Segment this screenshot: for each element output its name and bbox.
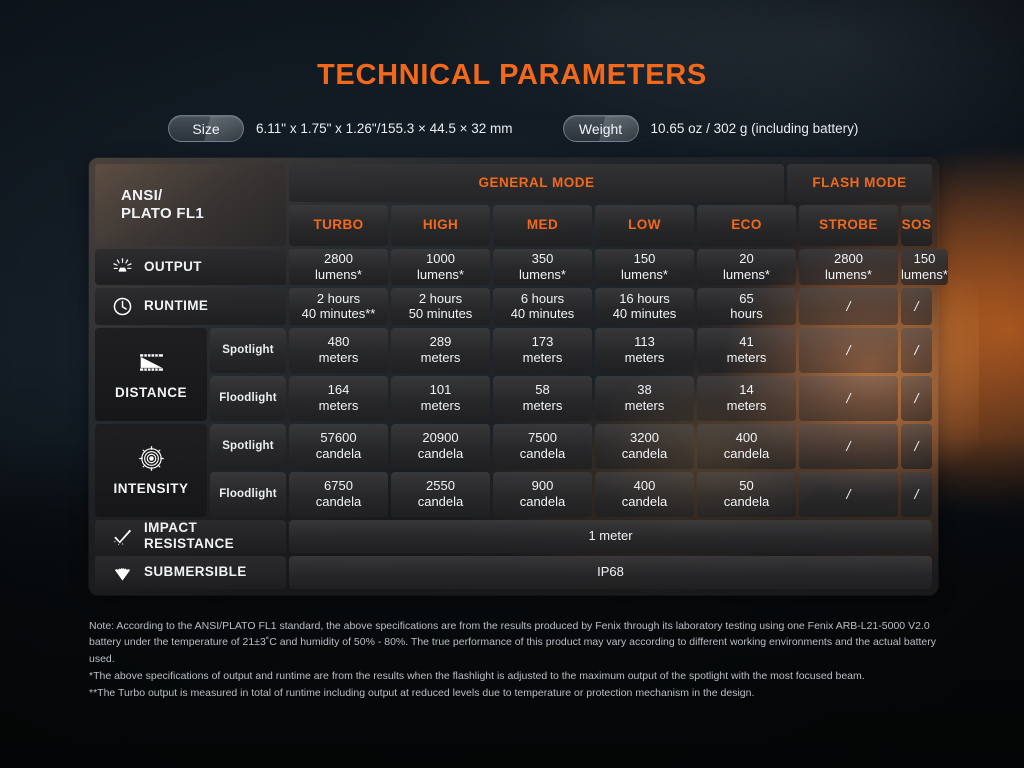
value-unit: meters bbox=[625, 350, 665, 366]
value-unit: lumens* bbox=[825, 267, 872, 283]
table-row-distance: DISTANCE Spotlight 480meters 289meters 1… bbox=[95, 328, 932, 421]
page-title: TECHNICAL PARAMETERS bbox=[0, 59, 1024, 92]
cell-distance-flood-sos: / bbox=[901, 376, 932, 421]
cell-intensity-flood-strobe: / bbox=[799, 472, 898, 517]
value-number: 2800 bbox=[315, 251, 362, 267]
group-general-mode: GENERAL MODE bbox=[289, 164, 784, 202]
target-icon bbox=[138, 445, 165, 472]
value-unit: candela bbox=[316, 446, 362, 462]
value-number: 101 bbox=[421, 382, 461, 398]
cell-distance-flood-low: 38meters bbox=[595, 376, 694, 421]
cell-runtime-high: 2 hours50 minutes bbox=[391, 288, 490, 324]
cell-runtime-turbo: 2 hours40 minutes** bbox=[289, 288, 388, 324]
mode-group-row: GENERAL MODE FLASH MODE bbox=[289, 164, 932, 202]
row-label-runtime-text: RUNTIME bbox=[144, 298, 208, 314]
value-number: 150 bbox=[621, 251, 668, 267]
value-unit: candela bbox=[418, 446, 464, 462]
cell-intensity-flood-low: 400candela bbox=[595, 472, 694, 517]
ruler-icon bbox=[138, 349, 165, 376]
value-number: 480 bbox=[319, 334, 359, 350]
cell-runtime-low: 16 hours40 minutes bbox=[595, 288, 694, 324]
mode-header-sos: SOS bbox=[901, 205, 932, 246]
value-number: 57600 bbox=[316, 430, 362, 446]
row-label-submersible-text: SUBMERSIBLE bbox=[144, 564, 247, 580]
footnotes: Note: According to the ANSI/PLATO FL1 st… bbox=[89, 618, 944, 702]
row-label-intensity-text: INTENSITY bbox=[113, 481, 188, 496]
sublabel-intensity-spotlight: Spotlight bbox=[210, 424, 286, 469]
value-number: 20 bbox=[723, 251, 770, 267]
table-row-distance-spotlight: Spotlight 480meters 289meters 173meters … bbox=[210, 328, 932, 373]
value-unit: meters bbox=[421, 350, 461, 366]
cell-distance-flood-high: 101meters bbox=[391, 376, 490, 421]
cell-distance-flood-turbo: 164meters bbox=[289, 376, 388, 421]
spec-summary-bar: Size 6.11" x 1.75" x 1.26"/155.3 × 44.5 … bbox=[168, 115, 858, 142]
cell-submersible-value: IP68 bbox=[289, 556, 932, 589]
value-unit: meters bbox=[523, 398, 563, 414]
value-unit: candela bbox=[316, 494, 362, 510]
value-number: 6750 bbox=[316, 478, 362, 494]
value-number: 14 bbox=[727, 382, 767, 398]
mode-header-strobe: STROBE bbox=[799, 205, 898, 246]
mode-header-high: HIGH bbox=[391, 205, 490, 246]
value-number: 350 bbox=[519, 251, 566, 267]
row-label-intensity: INTENSITY bbox=[95, 424, 207, 517]
value-unit: 40 minutes bbox=[511, 306, 575, 322]
cell-impact-resistance-value: 1 meter bbox=[289, 520, 932, 553]
distance-subrows: Spotlight 480meters 289meters 173meters … bbox=[210, 328, 932, 421]
size-pill: Size bbox=[168, 115, 244, 142]
cell-output-turbo: 2800lumens* bbox=[289, 249, 388, 285]
value-unit: candela bbox=[418, 494, 464, 510]
weight-value: 10.65 oz / 302 g (including battery) bbox=[651, 121, 859, 136]
value-number: 1000 bbox=[417, 251, 464, 267]
row-label-distance-text: DISTANCE bbox=[115, 385, 187, 400]
value-number: 38 bbox=[625, 382, 665, 398]
row-label-impact-text: IMPACT RESISTANCE bbox=[144, 520, 234, 553]
sunburst-icon bbox=[112, 257, 133, 278]
value-unit: 50 minutes bbox=[409, 306, 473, 322]
cell-distance-spot-turbo: 480meters bbox=[289, 328, 388, 373]
sublabel-intensity-floodlight: Floodlight bbox=[210, 472, 286, 517]
value-number: 20900 bbox=[418, 430, 464, 446]
value-unit: candela bbox=[724, 446, 770, 462]
cell-runtime-med: 6 hours40 minutes bbox=[493, 288, 592, 324]
value-unit: lumens* bbox=[621, 267, 668, 283]
value-unit: candela bbox=[622, 446, 668, 462]
value-unit: candela bbox=[520, 494, 566, 510]
value-number: 7500 bbox=[520, 430, 566, 446]
impact-line2: RESISTANCE bbox=[144, 536, 234, 552]
cell-output-strobe: 2800lumens* bbox=[799, 249, 898, 285]
value-number: 2800 bbox=[825, 251, 872, 267]
intensity-subrows: Spotlight 57600candela 20900candela 7500… bbox=[210, 424, 932, 517]
cell-distance-spot-strobe: / bbox=[799, 328, 898, 373]
cell-output-low: 150lumens* bbox=[595, 249, 694, 285]
table-row-intensity: INTENSITY Spotlight 57600candela 20900ca… bbox=[95, 424, 932, 517]
cell-distance-spot-sos: / bbox=[901, 328, 932, 373]
value-number: 2 hours bbox=[302, 291, 376, 307]
cell-intensity-spot-low: 3200candela bbox=[595, 424, 694, 469]
cell-distance-flood-med: 58meters bbox=[493, 376, 592, 421]
mode-header-low: LOW bbox=[595, 205, 694, 246]
value-unit: meters bbox=[421, 398, 461, 414]
value-number: 2 hours bbox=[409, 291, 473, 307]
corner-label: ANSI/ PLATO FL1 bbox=[95, 164, 286, 246]
value-unit: lumens* bbox=[901, 267, 948, 283]
table-header-row: ANSI/ PLATO FL1 GENERAL MODE FLASH MODE … bbox=[95, 164, 932, 246]
cell-intensity-flood-high: 2550candela bbox=[391, 472, 490, 517]
value-number: 16 hours bbox=[613, 291, 677, 307]
value-number: 58 bbox=[523, 382, 563, 398]
row-label-output: OUTPUT bbox=[95, 249, 286, 285]
value-number: 113 bbox=[625, 334, 665, 350]
table-row-submersible: SUBMERSIBLE IP68 bbox=[95, 556, 932, 589]
mode-header-eco: ECO bbox=[697, 205, 796, 246]
cell-distance-flood-eco: 14meters bbox=[697, 376, 796, 421]
value-unit: meters bbox=[319, 350, 359, 366]
cell-distance-spot-eco: 41meters bbox=[697, 328, 796, 373]
cell-distance-spot-low: 113meters bbox=[595, 328, 694, 373]
cell-distance-flood-strobe: / bbox=[799, 376, 898, 421]
table-row-output: OUTPUT 2800lumens* 1000lumens* 350lumens… bbox=[95, 249, 932, 285]
table-row-impact-resistance: IMPACT RESISTANCE 1 meter bbox=[95, 520, 932, 553]
row-label-runtime: RUNTIME bbox=[95, 288, 286, 324]
cell-intensity-spot-turbo: 57600candela bbox=[289, 424, 388, 469]
value-unit: 40 minutes bbox=[613, 306, 677, 322]
cell-output-sos: 150lumens* bbox=[901, 249, 948, 285]
value-number: 400 bbox=[622, 478, 668, 494]
cell-distance-spot-med: 173meters bbox=[493, 328, 592, 373]
value-number: 400 bbox=[724, 430, 770, 446]
footnote-main: Note: According to the ANSI/PLATO FL1 st… bbox=[89, 618, 944, 667]
cell-intensity-flood-med: 900candela bbox=[493, 472, 592, 517]
cell-output-high: 1000lumens* bbox=[391, 249, 490, 285]
value-number: 3200 bbox=[622, 430, 668, 446]
cell-output-eco: 20lumens* bbox=[697, 249, 796, 285]
value-unit: meters bbox=[727, 350, 767, 366]
value-number: 2550 bbox=[418, 478, 464, 494]
weight-pill: Weight bbox=[563, 115, 639, 142]
group-flash-mode: FLASH MODE bbox=[787, 164, 932, 202]
cell-runtime-eco: 65hours bbox=[697, 288, 796, 324]
mode-header-row: TURBO HIGH MED LOW ECO STROBE SOS bbox=[289, 205, 932, 246]
table-row-runtime: RUNTIME 2 hours40 minutes** 2 hours50 mi… bbox=[95, 288, 932, 324]
value-number: 173 bbox=[523, 334, 563, 350]
footnote-single-asterisk: *The above specifications of output and … bbox=[89, 668, 944, 684]
value-unit: hours bbox=[730, 306, 763, 322]
value-unit: candela bbox=[622, 494, 668, 510]
cell-intensity-spot-sos: / bbox=[901, 424, 932, 469]
cell-intensity-spot-high: 20900candela bbox=[391, 424, 490, 469]
impact-check-icon bbox=[112, 526, 133, 547]
value-number: 65 bbox=[730, 291, 763, 307]
water-drop-icon bbox=[112, 562, 133, 583]
cell-runtime-strobe: / bbox=[799, 288, 898, 324]
size-value: 6.11" x 1.75" x 1.26"/155.3 × 44.5 × 32 … bbox=[256, 121, 513, 136]
cell-output-med: 350lumens* bbox=[493, 249, 592, 285]
row-label-output-text: OUTPUT bbox=[144, 259, 202, 275]
value-number: 50 bbox=[724, 478, 770, 494]
value-number: 900 bbox=[520, 478, 566, 494]
value-unit: lumens* bbox=[417, 267, 464, 283]
cell-distance-spot-high: 289meters bbox=[391, 328, 490, 373]
sublabel-distance-floodlight: Floodlight bbox=[210, 376, 286, 421]
clock-icon bbox=[112, 296, 133, 317]
value-unit: lumens* bbox=[723, 267, 770, 283]
row-label-impact-resistance: IMPACT RESISTANCE bbox=[95, 520, 286, 553]
cell-runtime-sos: / bbox=[901, 288, 932, 324]
row-label-submersible: SUBMERSIBLE bbox=[95, 556, 286, 589]
value-number: 41 bbox=[727, 334, 767, 350]
impact-line1: IMPACT bbox=[144, 520, 234, 536]
value-number: 289 bbox=[421, 334, 461, 350]
weight-pill-label: Weight bbox=[579, 121, 622, 137]
value-unit: candela bbox=[724, 494, 770, 510]
cell-intensity-spot-eco: 400candela bbox=[697, 424, 796, 469]
cell-intensity-spot-med: 7500candela bbox=[493, 424, 592, 469]
value-unit: meters bbox=[523, 350, 563, 366]
corner-label-line2: PLATO FL1 bbox=[121, 205, 204, 223]
corner-label-line1: ANSI/ bbox=[121, 187, 204, 205]
table-row-intensity-floodlight: Floodlight 6750candela 2550candela 900ca… bbox=[210, 472, 932, 517]
cell-intensity-spot-strobe: / bbox=[799, 424, 898, 469]
value-unit: meters bbox=[625, 398, 665, 414]
specifications-table: ANSI/ PLATO FL1 GENERAL MODE FLASH MODE … bbox=[89, 158, 938, 595]
footnote-double-asterisk: **The Turbo output is measured in total … bbox=[89, 685, 944, 701]
value-unit: 40 minutes** bbox=[302, 306, 376, 322]
row-label-distance: DISTANCE bbox=[95, 328, 207, 421]
value-unit: meters bbox=[319, 398, 359, 414]
table-row-distance-floodlight: Floodlight 164meters 101meters 58meters … bbox=[210, 376, 932, 421]
size-pill-label: Size bbox=[192, 121, 219, 137]
cell-intensity-flood-eco: 50candela bbox=[697, 472, 796, 517]
cell-intensity-flood-turbo: 6750candela bbox=[289, 472, 388, 517]
table-row-intensity-spotlight: Spotlight 57600candela 20900candela 7500… bbox=[210, 424, 932, 469]
value-unit: candela bbox=[520, 446, 566, 462]
mode-header-med: MED bbox=[493, 205, 592, 246]
value-number: 150 bbox=[901, 251, 948, 267]
mode-header-turbo: TURBO bbox=[289, 205, 388, 246]
value-unit: lumens* bbox=[519, 267, 566, 283]
cell-intensity-flood-sos: / bbox=[901, 472, 932, 517]
value-unit: lumens* bbox=[315, 267, 362, 283]
value-unit: meters bbox=[727, 398, 767, 414]
value-number: 6 hours bbox=[511, 291, 575, 307]
header-right: GENERAL MODE FLASH MODE TURBO HIGH MED L… bbox=[289, 164, 932, 246]
sublabel-distance-spotlight: Spotlight bbox=[210, 328, 286, 373]
value-number: 164 bbox=[319, 382, 359, 398]
